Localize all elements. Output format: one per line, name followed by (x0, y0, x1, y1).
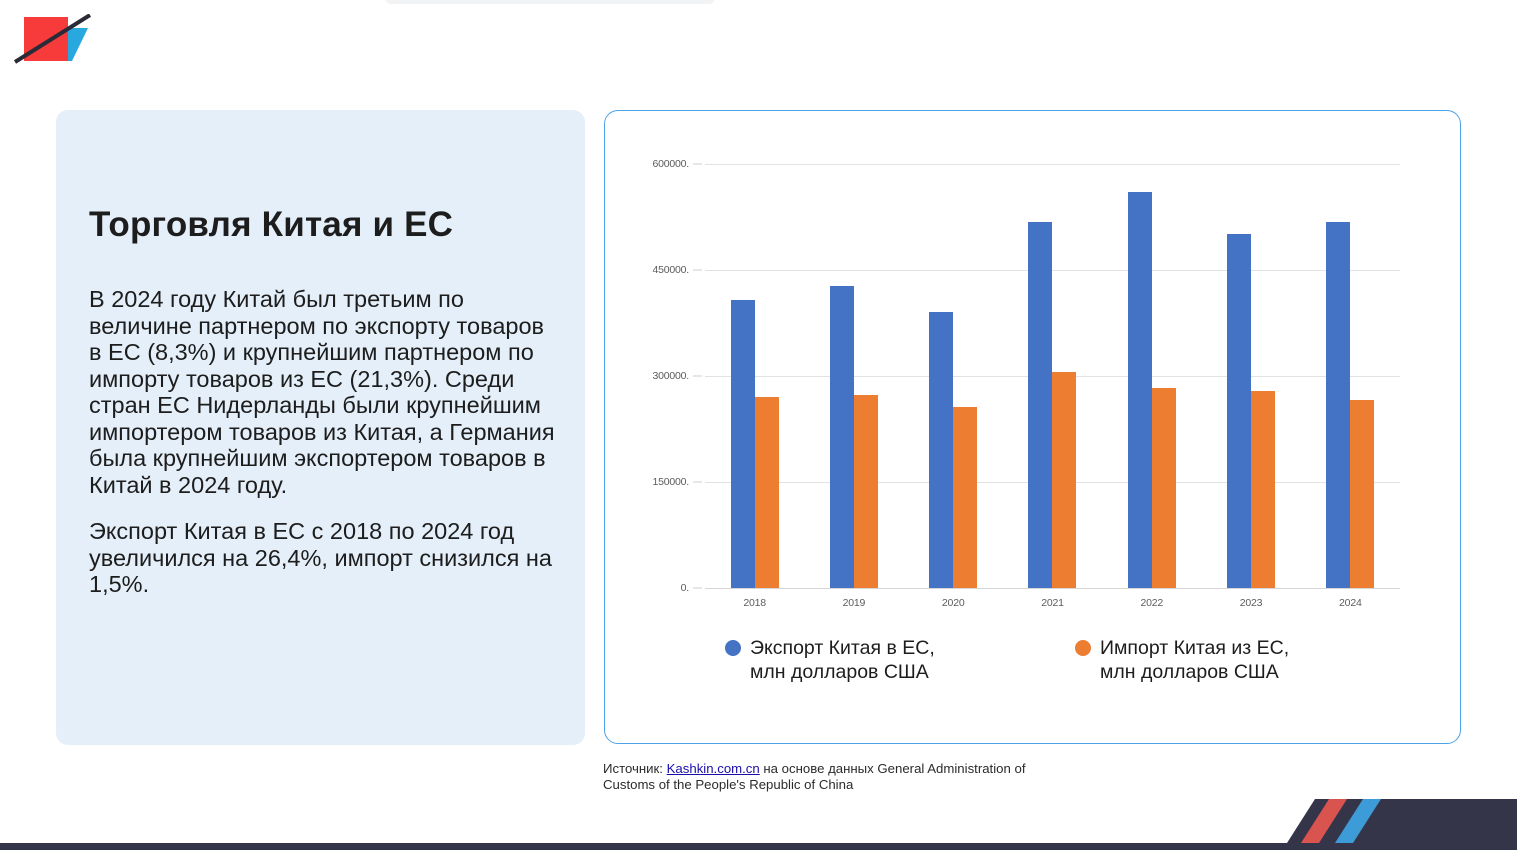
bar-group (804, 164, 903, 588)
y-axis-tick (693, 270, 702, 271)
panel-body: В 2024 году Китай был третьим по величин… (89, 286, 559, 598)
x-axis-labels: 2018201920202021202220232024 (705, 597, 1400, 609)
x-axis-label: 2019 (804, 597, 903, 609)
legend-item-export: Экспорт Китая в ЕС, млн долларов США (725, 636, 975, 684)
page-title: Торговля Китая и ЕС (89, 205, 453, 245)
bar-group (1003, 164, 1102, 588)
x-axis-label: 2020 (904, 597, 1003, 609)
bar-group (1201, 164, 1300, 588)
bar-export (929, 312, 953, 588)
bar-import (953, 407, 977, 588)
y-axis-tick (693, 164, 702, 165)
footer-bar (0, 843, 1517, 850)
bar-group (1301, 164, 1400, 588)
bar-export (1326, 222, 1350, 588)
plot-area (705, 164, 1400, 588)
y-axis-tick (693, 482, 702, 483)
bar-group (904, 164, 1003, 588)
chart-card: 600000. 450000. 300000. 150000. 0. 20182… (604, 110, 1461, 744)
bar-export (731, 300, 755, 588)
x-axis-label: 2024 (1301, 597, 1400, 609)
y-axis-label: 450000. (652, 264, 689, 276)
bar-import (854, 395, 878, 588)
source-prefix: Источник: (603, 761, 667, 776)
top-notch (385, 0, 715, 4)
x-axis-label: 2022 (1102, 597, 1201, 609)
source-caption: Источник: Kashkin.com.cn на основе данны… (603, 761, 1033, 792)
bar-export (830, 286, 854, 588)
y-axis-tick (693, 588, 702, 589)
bar-chart: 600000. 450000. 300000. 150000. 0. 20182… (605, 111, 1460, 743)
kashkin-logo (10, 14, 102, 74)
bar-export (1128, 192, 1152, 588)
panel-paragraph-2: Экспорт Китая в ЕС с 2018 по 2024 год ув… (89, 518, 559, 598)
panel-paragraph-1: В 2024 году Китай был третьим по величин… (89, 286, 559, 498)
bar-import (1350, 400, 1374, 588)
bar-import (1251, 391, 1275, 588)
info-panel: Торговля Китая и ЕС В 2024 году Китай бы… (56, 110, 585, 745)
bar-group (705, 164, 804, 588)
y-axis-label: 150000. (652, 476, 689, 488)
bar-export (1227, 234, 1251, 588)
y-axis-tick (693, 376, 702, 377)
y-axis-labels: 600000. 450000. 300000. 150000. 0. (623, 111, 689, 743)
legend-label-import: Импорт Китая из ЕС, млн долларов США (1100, 636, 1325, 684)
legend-swatch-export-icon (725, 640, 741, 656)
bar-import (1152, 388, 1176, 588)
x-axis-label: 2023 (1201, 597, 1300, 609)
y-axis-label: 600000. (652, 158, 689, 170)
gridline-baseline (705, 588, 1400, 589)
y-axis-label: 300000. (652, 370, 689, 382)
source-link[interactable]: Kashkin.com.cn (667, 761, 760, 776)
x-axis-label: 2021 (1003, 597, 1102, 609)
bar-group (1102, 164, 1201, 588)
legend-item-import: Импорт Китая из ЕС, млн долларов США (1075, 636, 1325, 684)
y-axis-label: 0. (681, 582, 689, 594)
footer-decoration (1227, 799, 1517, 843)
legend-swatch-import-icon (1075, 640, 1091, 656)
bar-import (755, 397, 779, 588)
legend-label-export: Экспорт Китая в ЕС, млн долларов США (750, 636, 975, 684)
bar-export (1028, 222, 1052, 588)
bar-import (1052, 372, 1076, 588)
chart-legend: Экспорт Китая в ЕС, млн долларов США Имп… (725, 636, 1400, 684)
x-axis-label: 2018 (705, 597, 804, 609)
